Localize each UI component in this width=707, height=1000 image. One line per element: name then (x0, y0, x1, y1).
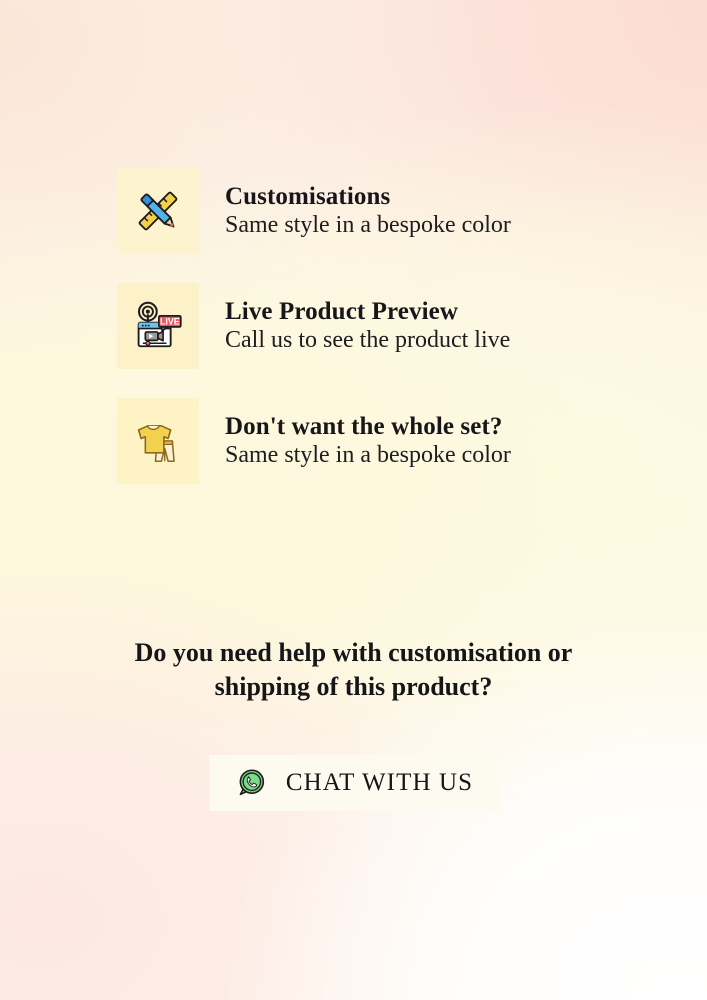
feature-item-customisations[interactable]: Customisations Same style in a bespoke c… (0, 168, 707, 254)
feature-text-block: Live Product Preview Call us to see the … (199, 299, 510, 353)
feature-title: Live Product Preview (225, 299, 510, 325)
feature-list: Customisations Same style in a bespoke c… (0, 168, 707, 513)
feature-subtitle: Same style in a bespoke color (225, 213, 511, 238)
feature-text-block: Customisations Same style in a bespoke c… (199, 184, 511, 238)
feature-icon-tile (117, 168, 199, 254)
live-video-preview-icon: LIVE (131, 299, 185, 353)
chat-with-us-button[interactable]: CHAT WITH US (209, 755, 499, 811)
help-heading-line-2: shipping of this product? (215, 672, 493, 701)
feature-text-block: Don't want the whole set? Same style in … (199, 414, 511, 468)
chat-button-container: CHAT WITH US (0, 755, 707, 811)
feature-icon-tile (117, 398, 199, 484)
help-heading: Do you need help with customisation or s… (0, 636, 707, 705)
feature-subtitle: Call us to see the product live (225, 328, 510, 353)
live-badge-text: LIVE (160, 317, 180, 327)
chat-button-label: CHAT WITH US (286, 769, 473, 797)
promo-panel: Customisations Same style in a bespoke c… (0, 0, 707, 1000)
feature-title: Don't want the whole set? (225, 414, 511, 440)
help-heading-line-1: Do you need help with customisation or (135, 638, 573, 667)
clothing-set-icon (131, 414, 185, 468)
feature-subtitle: Same style in a bespoke color (225, 443, 511, 468)
feature-icon-tile: LIVE (117, 283, 199, 369)
feature-item-live-preview[interactable]: LIVE Live Product Preview Call us to see… (0, 283, 707, 369)
feature-item-whole-set[interactable]: Don't want the whole set? Same style in … (0, 398, 707, 484)
ruler-pencil-icon (131, 184, 185, 238)
feature-title: Customisations (225, 184, 511, 210)
whatsapp-icon (234, 766, 268, 800)
